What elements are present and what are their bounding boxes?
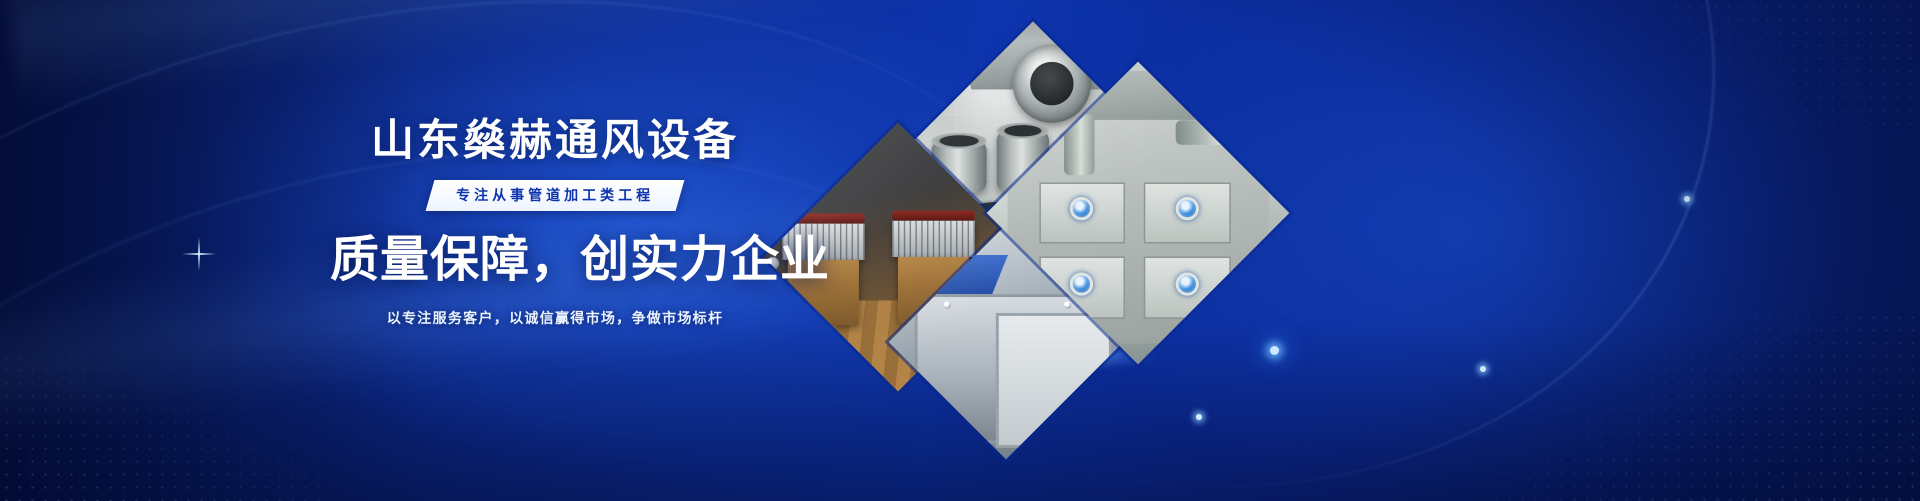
hero-tagline: 以专注服务客户，以诚信赢得市场，争做市场标杆: [330, 308, 780, 328]
hero-copy: 山东燊赫通风设备 专注从事管道加工类工程 质量保障，创实力企业 以专注服务客户，…: [330, 118, 780, 328]
badge-wrapper: 专注从事管道加工类工程: [330, 180, 780, 211]
tagline-badge-label: 专注从事管道加工类工程: [456, 185, 654, 205]
tagline-badge: 专注从事管道加工类工程: [426, 180, 685, 211]
hero-headline: 质量保障，创实力企业: [330, 233, 780, 288]
diamond-photo-collage: [795, 44, 1240, 374]
hero-banner: 山东燊赫通风设备 专注从事管道加工类工程 质量保障，创实力企业 以专注服务客户，…: [0, 0, 1920, 501]
brand-title: 山东燊赫通风设备: [330, 118, 780, 165]
